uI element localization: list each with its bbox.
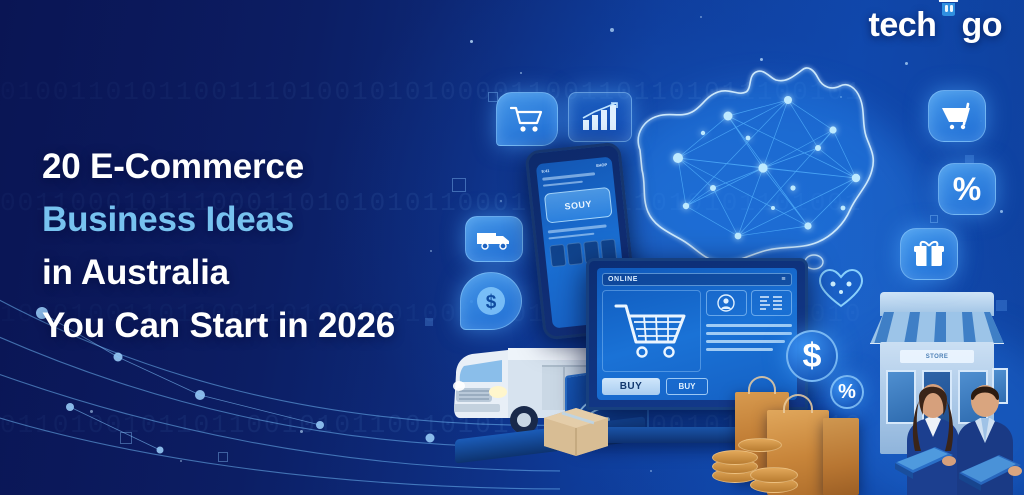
buy-button-primary[interactable]: BUY — [602, 378, 660, 395]
shopping-cart-icon — [940, 102, 974, 130]
phone-shop-label: SHOP — [596, 162, 608, 168]
phone-tile[interactable] — [549, 244, 566, 267]
badge-dollar-coin[interactable]: $ — [460, 272, 522, 330]
heart-favorite-icon — [818, 268, 864, 310]
badge-gift-right[interactable] — [900, 228, 958, 280]
phone-placeholder-line — [548, 232, 594, 239]
shopping-bag-handle — [748, 376, 776, 394]
store-awning — [866, 310, 1008, 344]
bar-chart-growth-icon — [580, 102, 620, 132]
phone-placeholder-line — [548, 224, 607, 233]
brand-logo[interactable]: tech go — [869, 6, 1002, 45]
dollar-coin-icon: $ — [474, 284, 508, 318]
svg-text:$: $ — [486, 292, 497, 313]
shopping-bag-handle — [783, 394, 813, 413]
coin — [712, 450, 758, 465]
headline-line-4: You Can Start in 2026 — [42, 299, 462, 352]
buy-button-secondary[interactable]: BUY — [666, 378, 708, 395]
user-account-tile[interactable] — [706, 290, 747, 316]
business-people-with-laptops — [895, 355, 1024, 495]
logo-text-before: tech — [869, 6, 937, 45]
phone-statusbar: 9:41 SHOP — [541, 162, 607, 174]
gift-box-icon — [913, 239, 945, 269]
phone-placeholder-line — [543, 180, 583, 187]
phone-buy-button[interactable]: SOUY — [544, 187, 613, 224]
browser-menu-icon[interactable]: ≡ — [781, 276, 786, 283]
logo-cart-u-icon — [936, 6, 961, 36]
text-bar — [706, 324, 792, 327]
store-details-panel — [706, 290, 792, 372]
shopping-cart-icon — [510, 105, 544, 133]
gold-coin-stacks — [712, 432, 822, 494]
delivery-van-icon — [476, 228, 512, 250]
headline-line-3: in Australia — [42, 246, 462, 299]
text-bar — [706, 332, 792, 335]
phone-time: 9:41 — [541, 168, 549, 174]
decor-square — [930, 215, 938, 223]
badge-percent-right[interactable]: % — [938, 163, 996, 215]
browser-url-text: ONLINE — [608, 276, 638, 283]
badge-shopping-cart[interactable] — [496, 92, 558, 146]
store-tiles — [706, 290, 792, 316]
headline-line-2: Business Ideas — [42, 193, 462, 246]
badge-delivery-van[interactable] — [465, 216, 523, 262]
headline-line-1: 20 E-Commerce — [42, 140, 462, 193]
badge-cart-right[interactable] — [928, 90, 986, 142]
cardboard-parcel-box — [540, 400, 612, 458]
shopping-cart-icon — [612, 300, 690, 362]
australia-network-map — [618, 38, 886, 288]
product-cart-panel — [602, 290, 701, 372]
text-bar — [706, 340, 785, 343]
product-list-icon — [759, 295, 783, 311]
page-title: 20 E-Commerce Business Ideas in Australi… — [42, 140, 462, 352]
banner-root: 0100110101100111010010101000011001101101… — [0, 0, 1024, 495]
coin — [738, 438, 782, 452]
product-list-tile[interactable] — [751, 290, 792, 316]
coin — [750, 467, 798, 483]
person-man — [957, 385, 1022, 495]
percent-icon: % — [953, 173, 981, 205]
logo-text-after: go — [961, 6, 1002, 45]
browser-url-bar[interactable]: ONLINE ≡ — [602, 273, 792, 286]
person-woman — [895, 384, 959, 495]
user-account-icon — [717, 294, 735, 312]
shopping-bag-right — [823, 418, 859, 495]
badge-analytics[interactable] — [568, 92, 632, 142]
store-page-body — [602, 290, 792, 372]
text-bar — [706, 348, 773, 351]
phone-placeholder-line — [542, 172, 595, 180]
text-placeholder-bars — [706, 324, 792, 351]
